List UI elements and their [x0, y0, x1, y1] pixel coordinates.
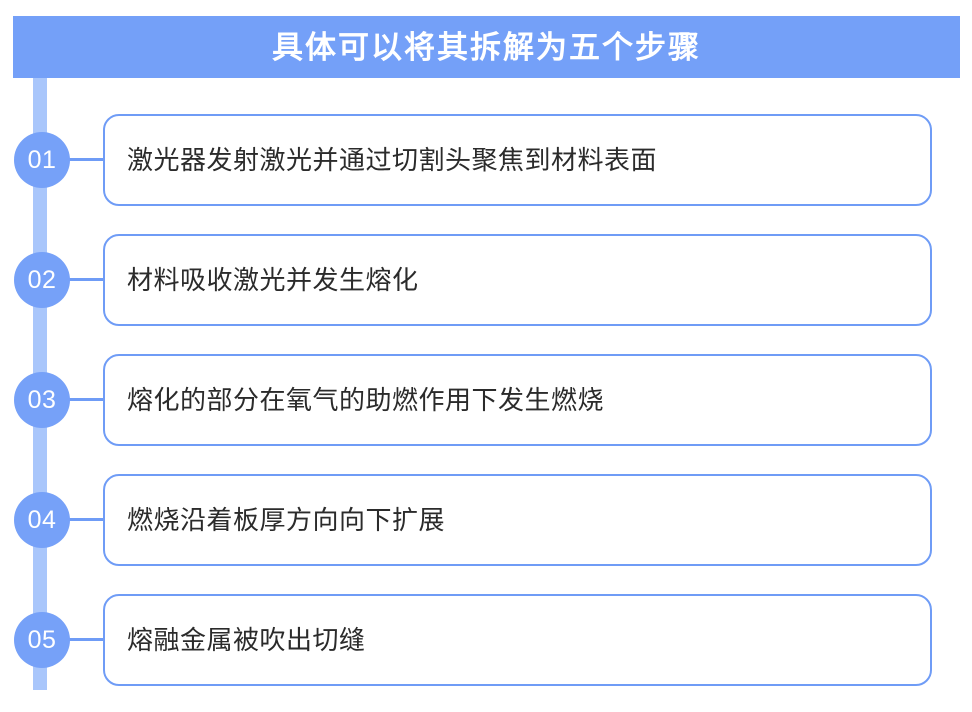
step-text: 熔化的部分在氧气的助燃作用下发生燃烧 [105, 384, 624, 417]
step-connector-line [68, 158, 105, 161]
step-card[interactable]: 材料吸收激光并发生熔化 [103, 234, 932, 326]
step-item[interactable]: 05 熔融金属被吹出切缝 [0, 594, 972, 686]
step-item[interactable]: 02 材料吸收激光并发生熔化 [0, 234, 972, 326]
step-number-badge: 03 [14, 372, 70, 428]
step-connector-line [68, 638, 105, 641]
step-card[interactable]: 熔融金属被吹出切缝 [103, 594, 932, 686]
step-connector-line [68, 278, 105, 281]
step-number-badge: 01 [14, 132, 70, 188]
step-connector-line [68, 398, 105, 401]
step-connector-line [68, 518, 105, 521]
step-card[interactable]: 激光器发射激光并通过切割头聚焦到材料表面 [103, 114, 932, 206]
step-item[interactable]: 04 燃烧沿着板厚方向向下扩展 [0, 474, 972, 566]
step-text: 熔融金属被吹出切缝 [105, 624, 386, 657]
step-item[interactable]: 01 激光器发射激光并通过切割头聚焦到材料表面 [0, 114, 972, 206]
slide-canvas: 具体可以将其拆解为五个步骤 01 激光器发射激光并通过切割头聚焦到材料表面 02… [0, 0, 972, 712]
step-card[interactable]: 熔化的部分在氧气的助燃作用下发生燃烧 [103, 354, 932, 446]
step-number-badge: 04 [14, 492, 70, 548]
step-number-badge: 05 [14, 612, 70, 668]
step-item[interactable]: 03 熔化的部分在氧气的助燃作用下发生燃烧 [0, 354, 972, 446]
step-text: 激光器发射激光并通过切割头聚焦到材料表面 [105, 144, 677, 177]
step-text: 材料吸收激光并发生熔化 [105, 264, 439, 297]
step-text: 燃烧沿着板厚方向向下扩展 [105, 504, 465, 537]
step-number-badge: 02 [14, 252, 70, 308]
steps-list: 01 激光器发射激光并通过切割头聚焦到材料表面 02 材料吸收激光并发生熔化 0… [0, 0, 972, 712]
step-card[interactable]: 燃烧沿着板厚方向向下扩展 [103, 474, 932, 566]
